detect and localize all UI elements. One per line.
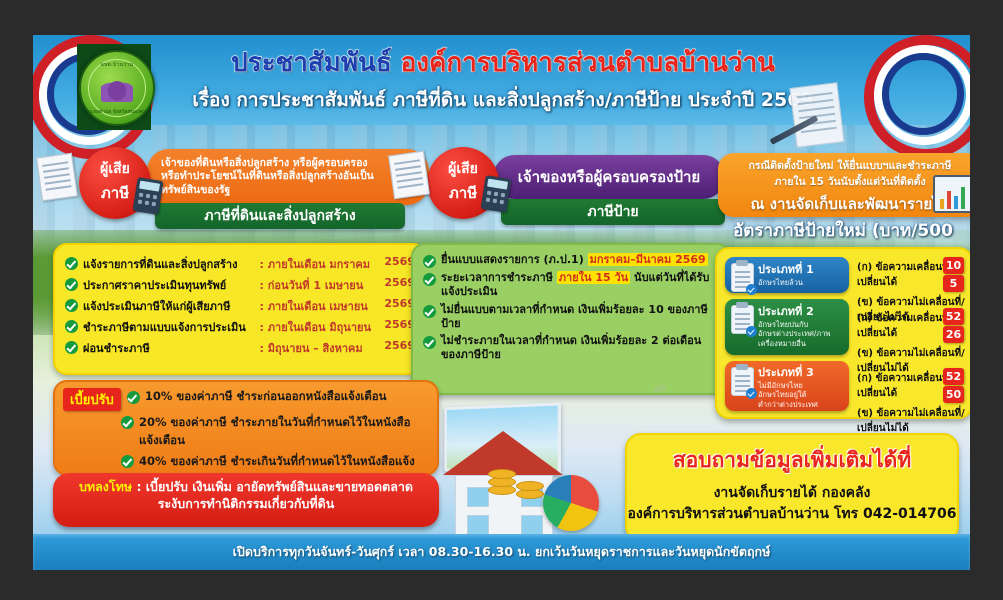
logo-top-text: อบต.บ้านว่าน bbox=[81, 61, 153, 69]
list-item: ไม่ชำระภายในเวลาที่กำหนด เงินเพิ่มร้อยละ… bbox=[423, 334, 719, 363]
table-row: ผ่อนชำระภาษี : มิถุนายน – สิงหาคม 2569 bbox=[65, 337, 415, 358]
rate-category-1-title: ประเภทที่ 1 bbox=[758, 260, 849, 278]
pie-chart-illustration bbox=[533, 465, 623, 545]
schedule-when-2: : ภายในเดือน เมษายน bbox=[254, 295, 377, 316]
schedule-item-4: ผ่อนชำระภาษี bbox=[83, 337, 254, 358]
check-icon bbox=[423, 273, 436, 286]
thai-ribbon-right-icon bbox=[860, 35, 970, 149]
rate-3-value-0: 52 bbox=[943, 368, 964, 385]
sign-rule-0-pre: ยื่นแบบแสดงรายการ (ภ.ป.1) bbox=[441, 253, 584, 266]
penalty-line-0: 10% ของค่าภาษี ชำระก่อนออกหนังสือแจ้งเตื… bbox=[145, 388, 387, 406]
title-part2: องค์การบริหารส่วนตำบลบ้านว่าน bbox=[401, 48, 775, 78]
contact-heading: สอบถามข้อมูลเพิ่มเติมได้ที่ bbox=[627, 444, 957, 477]
clipboard-icon bbox=[731, 305, 754, 334]
rate-1-value-1: 5 bbox=[943, 275, 964, 292]
land-tax-schedule-table: แจ้งรายการที่ดินและสิ่งปลูกสร้าง : ภายใน… bbox=[65, 253, 415, 358]
check-icon bbox=[121, 455, 134, 468]
schedule-item-3: ชำระภาษีตามแบบแจ้งการประเมิน bbox=[83, 316, 254, 337]
land-payer-line-2: ทรัพย์สินของรัฐ bbox=[161, 184, 374, 197]
table-row: ประกาศราคาประเมินทุนทรัพย์ : ก่อนวันที่ … bbox=[65, 274, 415, 295]
document-icon bbox=[388, 151, 430, 200]
check-icon bbox=[423, 336, 436, 349]
logo-emblem-icon bbox=[101, 74, 133, 102]
rate-2-value-1: 26 bbox=[943, 326, 964, 343]
check-icon bbox=[423, 255, 436, 268]
penalty-line-1: 20% ของค่าภาษี ชำระภายในวันที่กำหนดไว้ใน… bbox=[139, 414, 429, 450]
schedule-item-0: แจ้งรายการที่ดินและสิ่งปลูกสร้าง bbox=[83, 253, 254, 274]
logo-bottom-text: อำเภอท่าบ่อ จังหวัดหนองคาย bbox=[81, 108, 153, 116]
sign-tax-header-group: เจ้าของหรือผู้ครอบครองป้าย ภาษีป้าย ผู้เ… bbox=[395, 147, 735, 237]
rate-category-3-subtitle: ไม่มีอักษรไทย อักษรไทยอยู่ใต้ ต่ำกว่าต่า… bbox=[758, 381, 849, 409]
penalty-fine-tag: เบี้ยปรับ bbox=[63, 388, 121, 411]
sign-tax-section-label: ภาษีป้าย bbox=[501, 199, 725, 225]
clipboard-icon bbox=[731, 263, 754, 292]
land-taxpayer-pill: เจ้าของที่ดินหรือสิ่งปลูกสร้าง หรือผู้คร… bbox=[147, 149, 429, 205]
land-payer-line-0: เจ้าของที่ดินหรือสิ่งปลูกสร้าง หรือผู้คร… bbox=[161, 157, 374, 170]
rate-category-2-title: ประเภทที่ 2 bbox=[758, 302, 849, 320]
clipboard-icon bbox=[731, 367, 754, 396]
organization-logo: อบต.บ้านว่าน อำเภอท่าบ่อ จังหวัดหนองคาย bbox=[63, 42, 159, 138]
check-icon bbox=[65, 320, 78, 333]
table-row: แจ้งประเมินภาษีให้แก่ผู้เสียภาษี : ภายใน… bbox=[65, 295, 415, 316]
schedule-when-1: : ก่อนวันที่ 1 เมษายน bbox=[254, 274, 377, 295]
rate-3-row-1-label: (ข) ข้อความไม่เคลื่อนที่/เปลี่ยนไม่ได้ bbox=[857, 406, 970, 436]
schedule-year-2: 2569 bbox=[377, 295, 415, 316]
title-part1: ประชาสัมพันธ์ bbox=[231, 48, 391, 78]
sign-rate-table: ประเภทที่ 1 อักษรไทยล้วน (ก) ข้อความเคลื… bbox=[715, 247, 970, 419]
check-icon bbox=[423, 305, 436, 318]
sign-rule-1-pre: ระยะเวลาการชำระภาษี bbox=[441, 271, 553, 284]
land-tax-section-label: ภาษีที่ดินและสิ่งปลูกสร้าง bbox=[155, 203, 405, 229]
page-subtitle: เรื่อง การประชาสัมพันธ์ ภาษีที่ดิน และสิ… bbox=[153, 85, 853, 115]
sign-rule-1-highlight: ภายใน 15 วัน bbox=[557, 271, 630, 284]
contact-line2: องค์การบริหารส่วนตำบลบ้านว่าน โทร 042-01… bbox=[627, 504, 957, 525]
document-icon bbox=[36, 153, 78, 202]
legal-penalty-bar: บทลงโทษ : เบี้ยปรับ เงินเพิ่ม อายัดทรัพย… bbox=[53, 473, 439, 527]
page-title: ประชาสัมพันธ์ องค์การบริหารส่วนตำบลบ้านว… bbox=[153, 49, 853, 78]
decorative-document-icon bbox=[790, 82, 845, 147]
land-payer-line-1: หรือทำประโยชน์ในที่ดินหรือสิ่งปลูกสร้างอ… bbox=[161, 170, 374, 183]
penalty-box: เบี้ยปรับ 10% ของค่าภาษี ชำระก่อนออกหนัง… bbox=[53, 380, 439, 476]
rate-category-3: ประเภทที่ 3 ไม่มีอักษรไทย อักษรไทยอยู่ใต… bbox=[725, 361, 849, 411]
check-icon bbox=[127, 391, 140, 404]
schedule-year-4: 2569 bbox=[377, 337, 415, 358]
schedule-item-1: ประกาศราคาประเมินทุนทรัพย์ bbox=[83, 274, 254, 295]
schedule-year-0: 2569 bbox=[377, 253, 415, 274]
sign-rule-2: ไม่ยื่นแบบตามเวลาที่กำหนด เงินเพิ่มร้อยล… bbox=[441, 303, 719, 332]
land-tax-schedule-box: แจ้งรายการที่ดินและสิ่งปลูกสร้าง : ภายใน… bbox=[53, 243, 427, 375]
legal-tag: บทลงโทษ bbox=[79, 479, 132, 494]
schedule-when-3: : ภายในเดือน มิถุนายน bbox=[254, 316, 377, 337]
table-row: แจ้งรายการที่ดินและสิ่งปลูกสร้าง : ภายใน… bbox=[65, 253, 415, 274]
land-tax-header-group: เจ้าของที่ดินหรือสิ่งปลูกสร้าง หรือผู้คร… bbox=[55, 145, 405, 235]
legal-line2: ระงับการทำนิติกรรมเกี่ยวกับที่ดิน bbox=[63, 496, 429, 513]
check-icon bbox=[121, 416, 134, 429]
rate-3-value-1: 50 bbox=[943, 386, 964, 403]
sign-payer-text: เจ้าของหรือผู้ครอบครองป้าย bbox=[518, 168, 700, 187]
sign-taxpayer-pill: เจ้าของหรือผู้ครอบครองป้าย bbox=[493, 155, 725, 199]
sign-rule-0-highlight: มกราคม–มีนาคม 2569 bbox=[588, 253, 708, 266]
footer-bar: เปิดบริการทุกวันจันทร์-วันศุกร์ เวลา 08.… bbox=[33, 534, 970, 570]
schedule-year-3: 2569 bbox=[377, 316, 415, 337]
poster-root: อบต.บ้านว่าน อำเภอท่าบ่อ จังหวัดหนองคาย … bbox=[33, 35, 970, 570]
rate-category-3-title: ประเภทที่ 3 bbox=[758, 363, 849, 381]
sign-tax-rules-box: ยื่นแบบแสดงรายการ (ภ.ป.1) มกราคม–มีนาคม … bbox=[411, 243, 731, 395]
list-item: ไม่ยื่นแบบตามเวลาที่กำหนด เงินเพิ่มร้อยล… bbox=[423, 303, 719, 332]
footer-text: เปิดบริการทุกวันจันทร์-วันศุกร์ เวลา 08.… bbox=[233, 542, 771, 562]
calculator-icon bbox=[481, 175, 512, 213]
contact-line1: งานจัดเก็บรายได้ กองคลัง bbox=[627, 483, 957, 504]
check-icon bbox=[65, 257, 78, 270]
calculator-icon bbox=[133, 177, 164, 215]
check-icon bbox=[65, 299, 78, 312]
contact-box: สอบถามข้อมูลเพิ่มเติมได้ที่ งานจัดเก็บรา… bbox=[625, 433, 959, 542]
chart-monitor-icon bbox=[933, 175, 970, 213]
schedule-when-4: : มิถุนายน – สิงหาคม bbox=[254, 337, 377, 358]
schedule-item-2: แจ้งประเมินภาษีให้แก่ผู้เสียภาษี bbox=[83, 295, 254, 316]
schedule-when-0: : ภายในเดือน มกราคม bbox=[254, 253, 377, 274]
list-item: ยื่นแบบแสดงรายการ (ภ.ป.1) มกราคม–มีนาคม … bbox=[423, 253, 719, 268]
sign-rule-3: ไม่ชำระภายในเวลาที่กำหนด เงินเพิ่มร้อยละ… bbox=[441, 334, 719, 363]
rate-category-1: ประเภทที่ 1 อักษรไทยล้วน bbox=[725, 257, 849, 293]
table-row: ชำระภาษีตามแบบแจ้งการประเมิน : ภายในเดือ… bbox=[65, 316, 415, 337]
legal-line1: : เบี้ยปรับ เงินเพิ่ม อายัดทรัพย์สินและข… bbox=[136, 479, 413, 494]
rate-category-2-subtitle: อักษรไทยปนกับ อักษรต่างประเทศ/ภาพ เครื่อ… bbox=[758, 320, 849, 348]
notice-line1: กรณีติดตั้งป้ายใหม่ ให้ยื่นแบบฯและชำระภา… bbox=[726, 159, 970, 175]
schedule-year-1: 2569 bbox=[377, 274, 415, 295]
rate-category-1-subtitle: อักษรไทยล้วน bbox=[758, 278, 849, 287]
check-icon bbox=[65, 278, 78, 291]
list-item: ระยะเวลาการชำระภาษี ภายใน 15 วัน นับแต่ว… bbox=[423, 271, 719, 300]
check-icon bbox=[65, 341, 78, 354]
rate-1-value-0: 10 bbox=[943, 257, 964, 274]
rate-category-2: ประเภทที่ 2 อักษรไทยปนกับ อักษรต่างประเท… bbox=[725, 299, 849, 355]
rate-2-value-0: 52 bbox=[943, 308, 964, 325]
